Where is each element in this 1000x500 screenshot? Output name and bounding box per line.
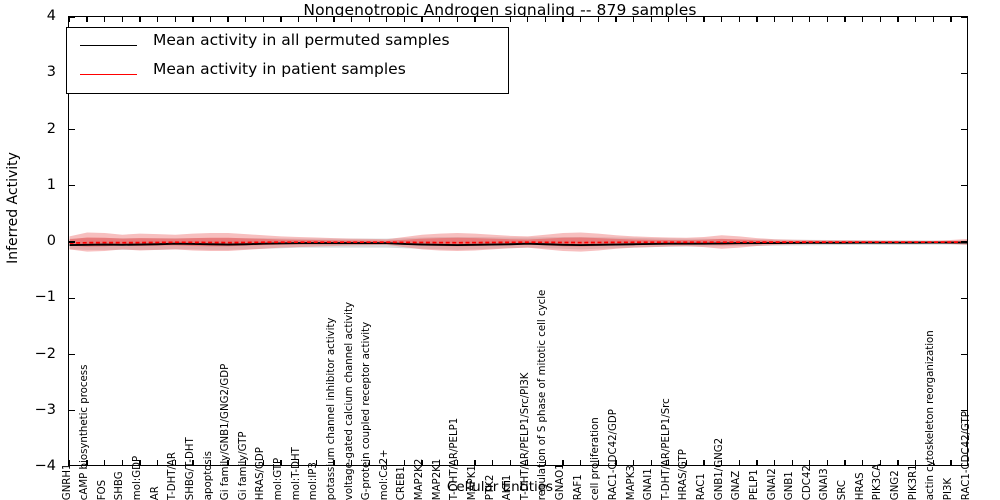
x-tick-label: RAC1-CDC42/GTP (962, 411, 972, 500)
x-tick-mark (104, 460, 105, 465)
x-tick-mark (404, 460, 405, 465)
x-tick-mark (280, 17, 281, 22)
x-tick-mark (527, 17, 528, 22)
x-tick-mark (157, 17, 158, 22)
x-tick-label: CDC42 (803, 465, 813, 500)
x-tick-mark (703, 17, 704, 22)
x-tick-mark (897, 460, 898, 465)
x-tick-mark (739, 460, 740, 465)
x-tick-mark (686, 17, 687, 22)
y-tick-label: −4 (0, 458, 56, 474)
x-tick-mark (545, 17, 546, 22)
x-tick-mark (950, 17, 951, 22)
legend-entry-permuted: Mean activity in all permuted samples (67, 32, 508, 60)
x-tick-label: MAPK1 (468, 465, 478, 500)
x-tick-mark (474, 17, 475, 22)
x-tick-label: mol:GDP (133, 456, 143, 500)
x-tick-mark (439, 17, 440, 22)
x-tick-mark (915, 17, 916, 22)
x-tick-label: PTK2 (486, 474, 496, 500)
x-tick-mark (774, 460, 775, 465)
x-tick-mark (580, 17, 581, 22)
x-tick-label: cAMP biosynthetic process (80, 364, 90, 500)
x-tick-label: CREB1 (398, 466, 408, 500)
x-tick-mark (774, 17, 775, 22)
x-tick-mark (404, 17, 405, 22)
x-tick-mark (369, 17, 370, 22)
x-tick-label: GNAI2 (768, 468, 778, 500)
x-tick-label: MAP2K1 (433, 458, 443, 500)
x-tick-label: HRAS (856, 472, 866, 500)
legend-swatch-permuted (80, 45, 137, 46)
x-tick-mark (263, 17, 264, 22)
y-tick-mark (69, 241, 75, 242)
x-tick-mark (792, 17, 793, 22)
x-tick-mark (880, 17, 881, 22)
x-tick-label: Gi family/GTP (239, 431, 249, 500)
x-tick-mark (492, 17, 493, 22)
x-tick-label: AR (151, 486, 161, 500)
y-tick-mark (961, 241, 967, 242)
x-tick-mark (792, 460, 793, 465)
x-tick-label: GNAZ (733, 471, 743, 500)
x-tick-label: PIK3R1 (909, 464, 919, 500)
x-tick-label: AKT1 (503, 474, 513, 500)
x-tick-label: GNAI1 (644, 468, 654, 500)
chart-root: Nongenotropic Androgen signaling -- 879 … (0, 0, 1000, 500)
y-tick-mark (961, 16, 967, 17)
x-tick-mark (844, 17, 845, 22)
x-tick-mark (580, 460, 581, 465)
x-tick-mark (492, 460, 493, 465)
y-tick-mark (961, 185, 967, 186)
x-tick-mark (245, 17, 246, 22)
x-tick-label: actin cytoskeleton reorganization (926, 330, 936, 500)
x-tick-label: GNB1 (785, 471, 795, 500)
y-tick-mark (961, 298, 967, 299)
y-tick-mark (961, 73, 967, 74)
x-tick-label: SHBG/T-DHT (186, 437, 196, 500)
y-tick-label: −3 (0, 402, 56, 418)
x-tick-label: RAC1-CDC42/GDP (609, 409, 619, 500)
y-tick-label: −1 (0, 289, 56, 305)
x-tick-label: cell proliferation (592, 417, 602, 500)
y-tick-mark (961, 354, 967, 355)
chart-legend: Mean activity in all permuted samples Me… (66, 27, 509, 94)
x-tick-label: potassium channel inhibitor activity (327, 317, 337, 500)
x-tick-mark (122, 460, 123, 465)
x-tick-mark (721, 17, 722, 22)
x-tick-label: MAPK3 (627, 465, 637, 500)
y-tick-label: 2 (0, 121, 56, 137)
x-tick-mark (651, 17, 652, 22)
x-tick-mark (157, 460, 158, 465)
x-tick-label: GNAI3 (821, 468, 831, 500)
x-tick-label: GNB1/GNG2 (715, 438, 725, 500)
legend-label-patient: Mean activity in patient samples (153, 60, 406, 78)
x-tick-label: T-DHT/AR (168, 452, 178, 500)
x-tick-mark (457, 17, 458, 22)
legend-swatch-patient (80, 74, 137, 75)
x-tick-mark (122, 17, 123, 22)
x-tick-label: T-DHT/AR/PELP1/Src/PI3K (521, 372, 531, 500)
x-tick-mark (651, 460, 652, 465)
x-tick-label: regulation of S phase of mitotic cell cy… (539, 289, 549, 500)
x-tick-mark (421, 17, 422, 22)
x-tick-mark (175, 17, 176, 22)
x-tick-mark (86, 17, 87, 22)
x-tick-label: mol:GTP (274, 458, 284, 500)
x-tick-label: HRAS/GDP (257, 447, 267, 500)
legend-entry-patient: Mean activity in patient samples (67, 61, 508, 89)
x-tick-mark (298, 17, 299, 22)
x-tick-mark (933, 17, 934, 22)
y-tick-mark (69, 354, 75, 355)
x-tick-mark (210, 17, 211, 22)
x-tick-mark (827, 460, 828, 465)
x-tick-label: RAF1 (574, 474, 584, 500)
x-axis-tick-labels: GNRH1cAMP biosynthetic processFOSSHBGmol… (68, 466, 968, 500)
x-tick-mark (827, 17, 828, 22)
x-tick-label: mol:T-DHT (292, 447, 302, 500)
x-tick-mark (510, 17, 511, 22)
x-tick-mark (192, 17, 193, 22)
x-tick-label: PI3K (944, 478, 954, 500)
x-tick-label: SHBG (116, 471, 126, 500)
x-tick-mark (598, 17, 599, 22)
y-tick-mark (69, 298, 75, 299)
legend-label-permuted: Mean activity in all permuted samples (153, 31, 450, 49)
x-tick-mark (756, 460, 757, 465)
x-tick-label: RAC1 (697, 473, 707, 500)
x-tick-mark (844, 460, 845, 465)
x-tick-mark (862, 460, 863, 465)
x-tick-mark (386, 17, 387, 22)
x-tick-mark (316, 17, 317, 22)
x-tick-label: MAP2K2 (415, 458, 425, 500)
x-tick-label: mol:IP3 (309, 462, 319, 500)
x-tick-mark (333, 17, 334, 22)
x-tick-label: FOS (98, 480, 108, 500)
x-tick-mark (351, 17, 352, 22)
x-tick-label: T-DHT/AR/PELP1/Src (662, 398, 672, 500)
x-tick-mark (510, 460, 511, 465)
y-tick-label: 3 (0, 64, 56, 80)
x-tick-mark (227, 17, 228, 22)
y-tick-mark (69, 185, 75, 186)
y-tick-mark (69, 410, 75, 411)
y-tick-label: 1 (0, 177, 56, 193)
x-tick-mark (633, 17, 634, 22)
x-tick-label: T-DHT/AR/PELP1 (450, 418, 460, 500)
x-tick-mark (615, 17, 616, 22)
x-tick-label: GNG2 (891, 470, 901, 500)
y-tick-label: −2 (0, 346, 56, 362)
x-tick-label: G-protein coupled receptor activity (362, 322, 372, 500)
x-tick-mark (897, 17, 898, 22)
x-tick-mark (69, 17, 70, 22)
y-tick-mark (961, 129, 967, 130)
x-tick-label: mol:Ca2+ (380, 449, 390, 500)
x-tick-mark (139, 17, 140, 22)
x-tick-mark (104, 17, 105, 22)
x-tick-label: Gi family/GNB1/GNG2/GDP (221, 364, 231, 500)
x-tick-label: apoptosis (204, 451, 214, 500)
x-tick-label: HRAS/GTP (680, 449, 690, 500)
x-tick-mark (756, 17, 757, 22)
y-tick-label: 4 (0, 8, 56, 24)
x-tick-mark (703, 460, 704, 465)
x-tick-mark (950, 460, 951, 465)
x-tick-mark (862, 17, 863, 22)
x-tick-label: voltage-gated calcium channel activity (345, 302, 355, 500)
x-tick-mark (668, 17, 669, 22)
x-tick-mark (562, 17, 563, 22)
x-tick-label: SRC (838, 480, 848, 500)
y-tick-label: 0 (0, 233, 56, 249)
x-tick-mark (809, 17, 810, 22)
x-tick-label: PIK3CA (874, 464, 884, 500)
x-tick-label: GNAO1 (556, 463, 566, 500)
x-tick-mark (739, 17, 740, 22)
x-tick-label: PELP1 (750, 469, 760, 500)
x-tick-label: GNRH1 (63, 463, 73, 500)
y-tick-mark (69, 129, 75, 130)
